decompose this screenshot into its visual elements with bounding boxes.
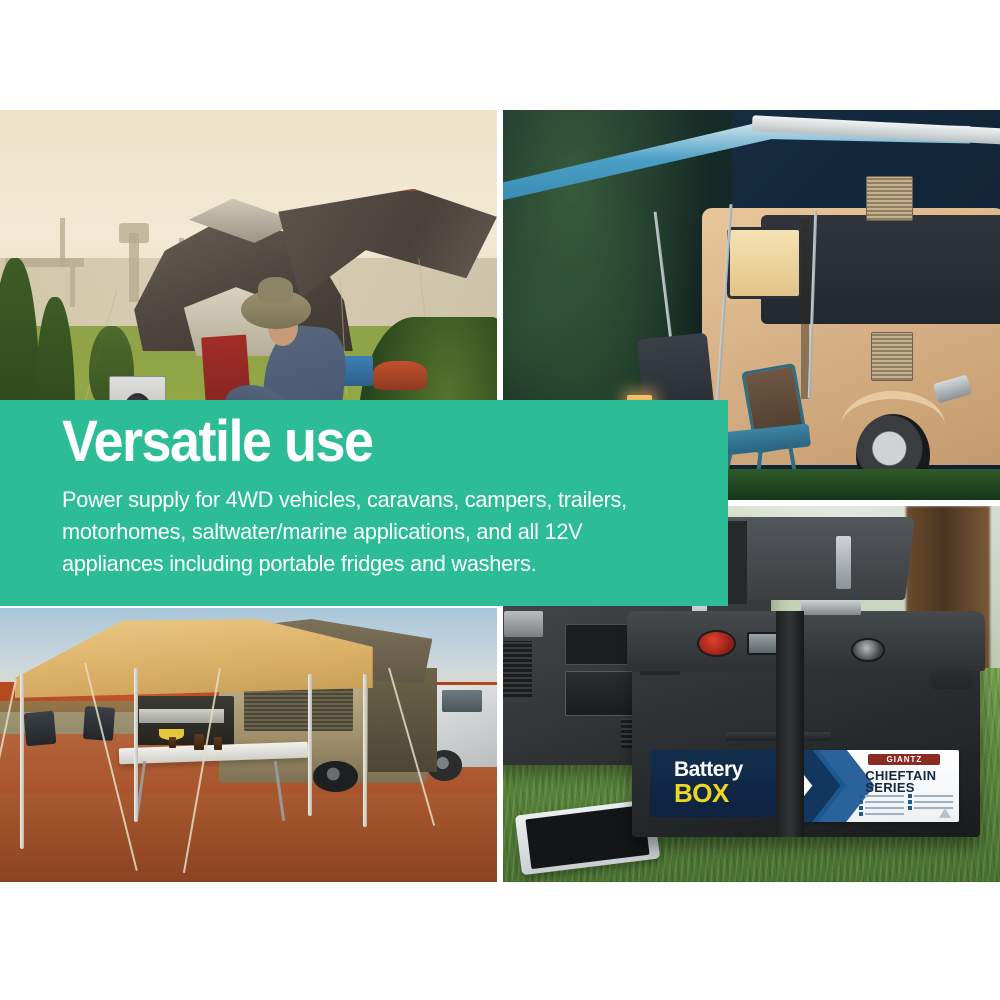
power-knob — [697, 630, 736, 657]
giantz-brand-text: GIANTZ — [887, 755, 923, 764]
battery-box-lid — [627, 611, 985, 671]
text-overlay-panel: Versatile use Power supply for 4WD vehic… — [0, 400, 728, 606]
overlay-body-line1: Power supply for 4WD vehicles, caravans,… — [62, 484, 665, 516]
overlay-body: Power supply for 4WD vehicles, caravans,… — [62, 484, 665, 580]
marketing-banner: Battery BOX GIANTZ CHIEFTAIN SERIES — [0, 0, 1000, 1000]
recycle-icon — [939, 808, 951, 818]
overlay-body-line3: appliances including portable fridges an… — [62, 548, 665, 580]
overlay-title: Versatile use — [62, 413, 373, 471]
battery-box-strap — [776, 611, 803, 837]
giantz-chieftain-label: GIANTZ CHIEFTAIN SERIES — [803, 750, 960, 822]
cigarette-socket — [851, 638, 885, 663]
photo-bottom-left — [0, 608, 497, 882]
battery-label-line2: BOX — [674, 780, 789, 807]
usb-port-cover — [801, 600, 861, 615]
overlay-body-line2: motorhomes, saltwater/marine application… — [62, 516, 665, 548]
battery-label-line1: Battery — [674, 759, 789, 780]
series-line2: SERIES — [865, 780, 914, 795]
battery-box-label: Battery BOX — [650, 750, 789, 818]
giantz-brand-badge: GIANTZ — [868, 754, 940, 766]
